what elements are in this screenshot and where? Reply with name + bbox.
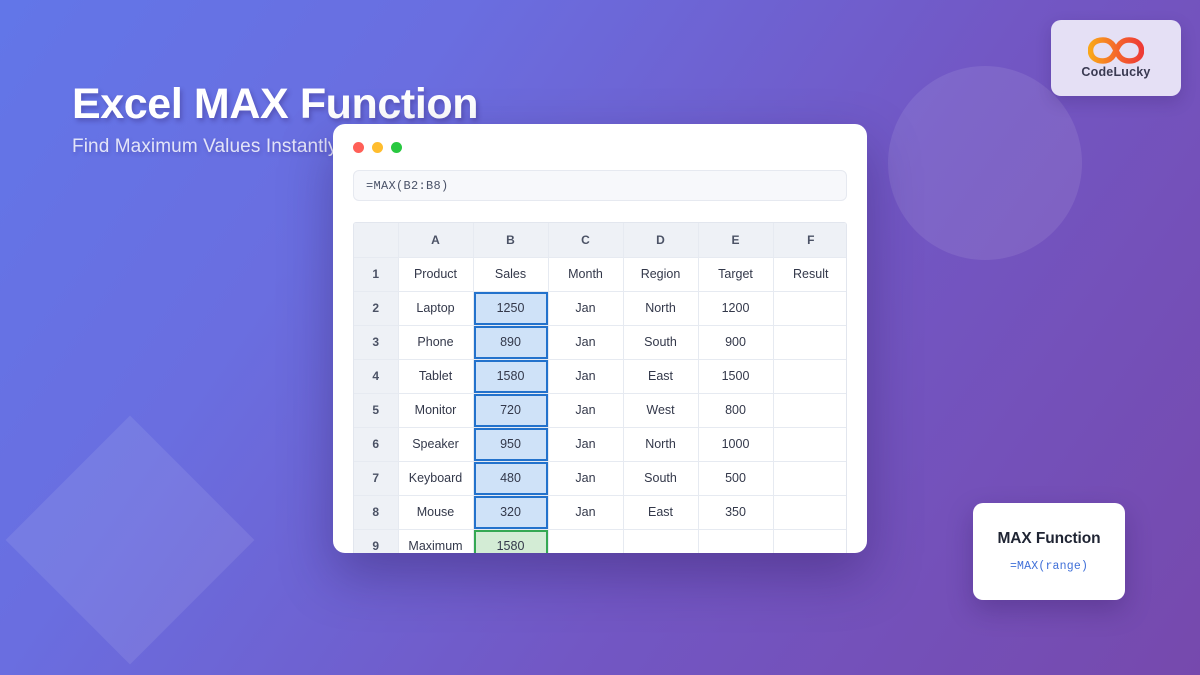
infinity-icon <box>1088 37 1144 64</box>
close-button[interactable] <box>353 142 364 153</box>
cell-B8[interactable]: 320 <box>473 495 548 529</box>
spreadsheet-grid: ABCDEF 1ProductSalesMonthRegionTargetRes… <box>354 223 847 553</box>
cell-A4[interactable]: Tablet <box>398 359 473 393</box>
cell-E2[interactable]: 1200 <box>698 291 773 325</box>
cell-B2[interactable]: 1250 <box>473 291 548 325</box>
formula-text: =MAX(B2:B8) <box>366 179 449 193</box>
grid-row: 8Mouse320JanEast350 <box>354 495 847 529</box>
cell-F5[interactable] <box>773 393 847 427</box>
column-header-f[interactable]: F <box>773 223 847 257</box>
cell-A8[interactable]: Mouse <box>398 495 473 529</box>
brand-logo-card[interactable]: CodeLucky <box>1051 20 1181 96</box>
cell-C1[interactable]: Month <box>548 257 623 291</box>
cell-E7[interactable]: 500 <box>698 461 773 495</box>
row-header-9[interactable]: 9 <box>354 529 398 553</box>
decorative-circle <box>888 66 1082 260</box>
grid-row: 1ProductSalesMonthRegionTargetResult <box>354 257 847 291</box>
cell-F4[interactable] <box>773 359 847 393</box>
cell-A2[interactable]: Laptop <box>398 291 473 325</box>
page-title: Excel MAX Function <box>72 80 692 128</box>
column-header-a[interactable]: A <box>398 223 473 257</box>
cell-D6[interactable]: North <box>623 427 698 461</box>
cell-C6[interactable]: Jan <box>548 427 623 461</box>
grid-row: 2Laptop1250JanNorth1200 <box>354 291 847 325</box>
grid-row: 7Keyboard480JanSouth500 <box>354 461 847 495</box>
cell-A3[interactable]: Phone <box>398 325 473 359</box>
cell-B5[interactable]: 720 <box>473 393 548 427</box>
column-header-c[interactable]: C <box>548 223 623 257</box>
cell-E1[interactable]: Target <box>698 257 773 291</box>
info-card-syntax: =MAX(range) <box>1010 560 1088 573</box>
cell-D1[interactable]: Region <box>623 257 698 291</box>
row-header-2[interactable]: 2 <box>354 291 398 325</box>
cell-D5[interactable]: West <box>623 393 698 427</box>
cell-B9[interactable]: 1580 <box>473 529 548 553</box>
grid-row: 5Monitor720JanWest800 <box>354 393 847 427</box>
cell-B3[interactable]: 890 <box>473 325 548 359</box>
cell-D9[interactable] <box>623 529 698 553</box>
cell-C2[interactable]: Jan <box>548 291 623 325</box>
column-header-d[interactable]: D <box>623 223 698 257</box>
cell-F9[interactable] <box>773 529 847 553</box>
cell-E9[interactable] <box>698 529 773 553</box>
cell-E3[interactable]: 900 <box>698 325 773 359</box>
cell-F6[interactable] <box>773 427 847 461</box>
column-header-b[interactable]: B <box>473 223 548 257</box>
cell-F7[interactable] <box>773 461 847 495</box>
cell-B7[interactable]: 480 <box>473 461 548 495</box>
spreadsheet-window: =MAX(B2:B8) ABCDEF 1ProductSalesMonthReg… <box>333 124 867 553</box>
cell-B4[interactable]: 1580 <box>473 359 548 393</box>
cell-A6[interactable]: Speaker <box>398 427 473 461</box>
cell-E8[interactable]: 350 <box>698 495 773 529</box>
cell-A1[interactable]: Product <box>398 257 473 291</box>
cell-C8[interactable]: Jan <box>548 495 623 529</box>
cell-B6[interactable]: 950 <box>473 427 548 461</box>
cell-A9[interactable]: Maximum <box>398 529 473 553</box>
cell-A7[interactable]: Keyboard <box>398 461 473 495</box>
grid-row: 3Phone890JanSouth900 <box>354 325 847 359</box>
column-header-row: ABCDEF <box>354 223 847 257</box>
cell-F3[interactable] <box>773 325 847 359</box>
cell-F2[interactable] <box>773 291 847 325</box>
row-header-1[interactable]: 1 <box>354 257 398 291</box>
cell-D3[interactable]: South <box>623 325 698 359</box>
grid-row: 6Speaker950JanNorth1000 <box>354 427 847 461</box>
row-header-3[interactable]: 3 <box>354 325 398 359</box>
cell-C4[interactable]: Jan <box>548 359 623 393</box>
column-header-e[interactable]: E <box>698 223 773 257</box>
formula-bar[interactable]: =MAX(B2:B8) <box>353 170 847 201</box>
row-header-8[interactable]: 8 <box>354 495 398 529</box>
row-header-7[interactable]: 7 <box>354 461 398 495</box>
cell-E4[interactable]: 1500 <box>698 359 773 393</box>
cell-F8[interactable] <box>773 495 847 529</box>
row-header-4[interactable]: 4 <box>354 359 398 393</box>
maximize-button[interactable] <box>391 142 402 153</box>
cell-E6[interactable]: 1000 <box>698 427 773 461</box>
brand-name: CodeLucky <box>1081 65 1150 79</box>
cell-C5[interactable]: Jan <box>548 393 623 427</box>
corner-header[interactable] <box>354 223 398 257</box>
cell-F1[interactable]: Result <box>773 257 847 291</box>
cell-C9[interactable] <box>548 529 623 553</box>
spreadsheet-grid-wrapper: ABCDEF 1ProductSalesMonthRegionTargetRes… <box>353 222 847 553</box>
cell-B1[interactable]: Sales <box>473 257 548 291</box>
cell-D8[interactable]: East <box>623 495 698 529</box>
info-card-title: MAX Function <box>998 530 1101 548</box>
grid-row: 4Tablet1580JanEast1500 <box>354 359 847 393</box>
cell-D4[interactable]: East <box>623 359 698 393</box>
grid-row: 9Maximum1580 <box>354 529 847 553</box>
cell-A5[interactable]: Monitor <box>398 393 473 427</box>
decorative-diamond <box>6 416 255 665</box>
cell-D2[interactable]: North <box>623 291 698 325</box>
cell-C7[interactable]: Jan <box>548 461 623 495</box>
cell-E5[interactable]: 800 <box>698 393 773 427</box>
minimize-button[interactable] <box>372 142 383 153</box>
window-titlebar <box>333 124 867 170</box>
max-function-info-card: MAX Function =MAX(range) <box>973 503 1125 600</box>
cell-C3[interactable]: Jan <box>548 325 623 359</box>
cell-D7[interactable]: South <box>623 461 698 495</box>
row-header-5[interactable]: 5 <box>354 393 398 427</box>
row-header-6[interactable]: 6 <box>354 427 398 461</box>
